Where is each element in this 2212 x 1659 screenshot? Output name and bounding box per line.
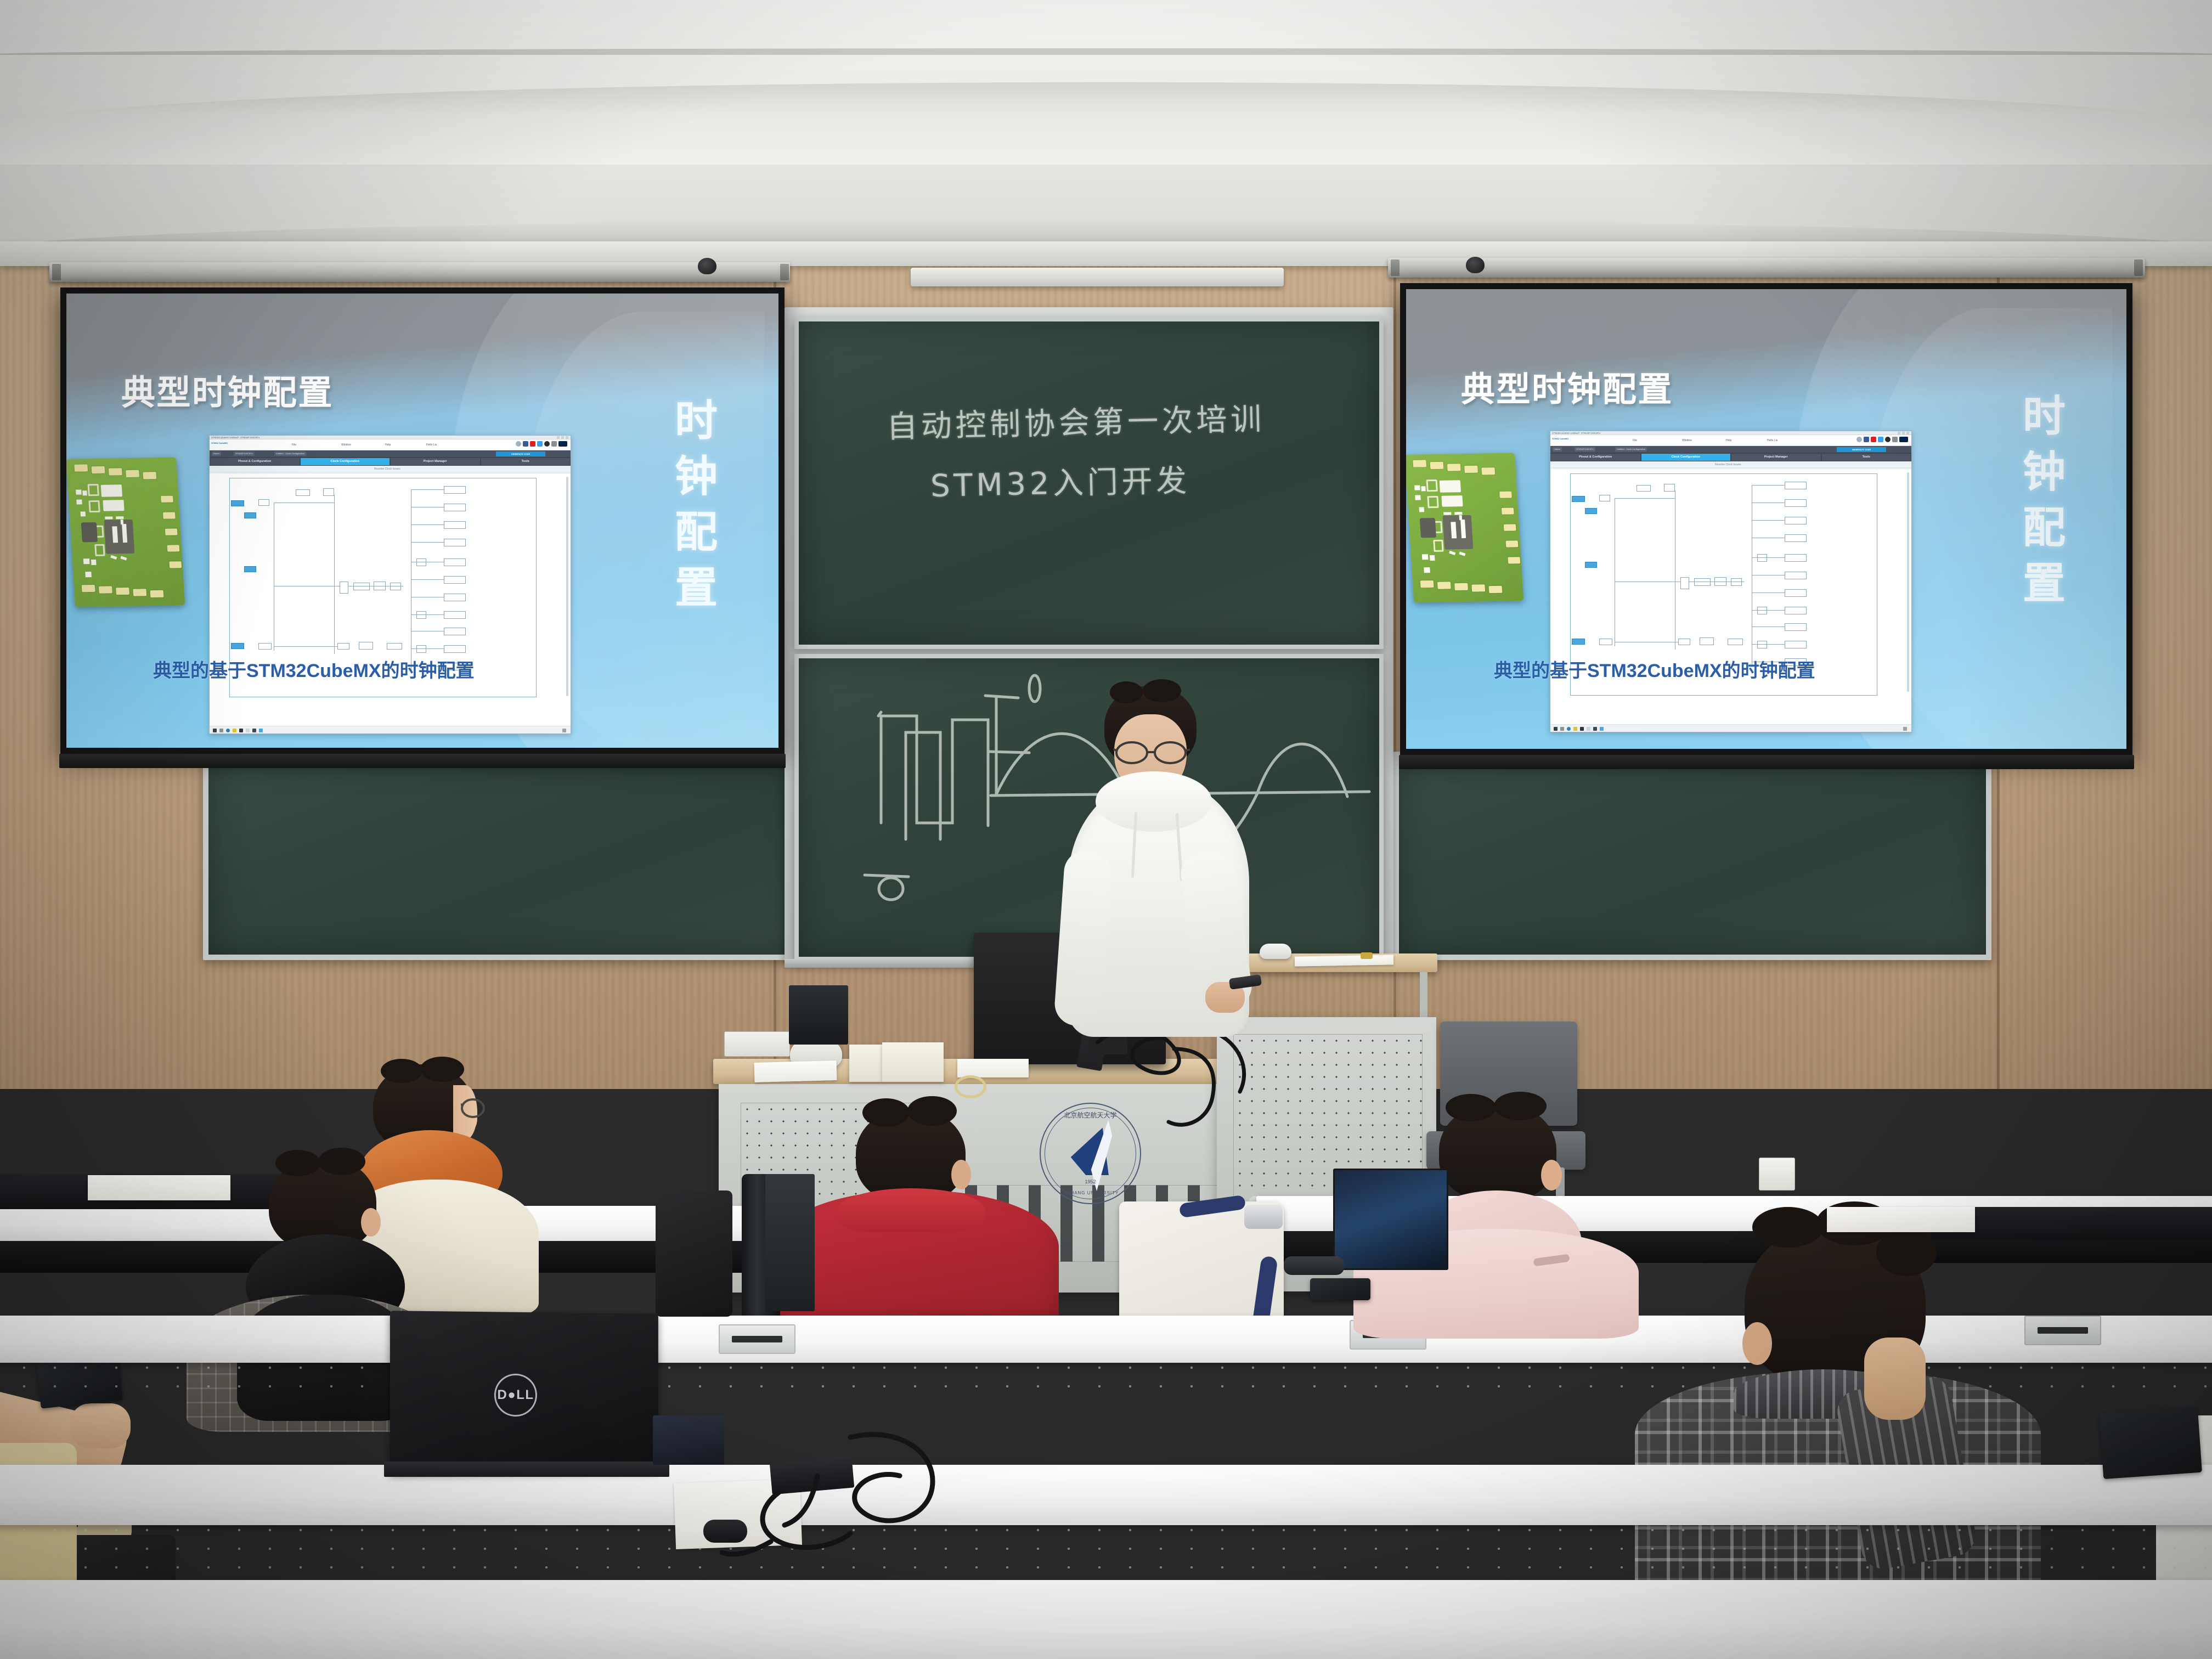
generate-code-button-right[interactable]: GENERATE CODE xyxy=(1837,447,1886,452)
student-black-ear xyxy=(361,1208,381,1237)
right-chalkboard xyxy=(1393,752,1991,960)
adapter-cable xyxy=(675,1415,982,1569)
taskbar-icon-3-right[interactable] xyxy=(1567,727,1571,731)
cubemx-breadcrumb-right: Home STM32F103C8Tx Untitled - Clock Conf… xyxy=(1550,446,1911,453)
cubemx-social-icons-right xyxy=(1857,437,1908,442)
left-screen-housing xyxy=(49,262,790,282)
board-light-fixture xyxy=(911,268,1284,286)
taskbar-icon-4-right[interactable] xyxy=(1573,727,1577,731)
camera-dome-right xyxy=(1466,257,1485,273)
slide-vertical-text: 时钟配置 xyxy=(662,398,724,620)
cubemx-screenshot: STM32CubeMX Untitled*: STM32F103C8Tx STM… xyxy=(209,435,571,734)
presenter-hood xyxy=(1096,771,1212,832)
youtube-icon-right[interactable] xyxy=(1871,437,1876,442)
resolve-clock-issues-label-right[interactable]: Resolve Clock Issues xyxy=(1715,463,1741,466)
right-screen-roller-end-right xyxy=(2134,259,2143,276)
tab-tools[interactable]: Tools xyxy=(481,458,571,465)
center-chalkboard: 自动控制协会第一次培训 STM32入门开发 xyxy=(794,317,1384,649)
lectern-support-right xyxy=(1420,972,1427,1017)
phone-on-desk-center[interactable] xyxy=(1310,1278,1370,1300)
chalk-line-2: STM32入门开发 xyxy=(930,456,1190,506)
desk-power-outlet[interactable] xyxy=(724,1031,790,1057)
cubemx-logo-right: STM32 CubeMX xyxy=(1552,437,1568,440)
tab-pinout-configuration-right[interactable]: Pinout & Configuration xyxy=(1551,454,1640,461)
community-icon[interactable] xyxy=(551,441,557,447)
ceiling xyxy=(0,0,2212,258)
dell-laptop[interactable]: D●LL xyxy=(390,1311,658,1473)
student-red-ear xyxy=(951,1160,971,1189)
left-slide: 典型时钟配置 时钟配置 xyxy=(66,294,778,748)
tablet-bottom-right[interactable] xyxy=(2099,1407,2202,1479)
right-screen-weight-bar xyxy=(1399,755,2134,769)
pcb-graphic xyxy=(66,458,185,607)
ceiling-step-upper xyxy=(0,48,2212,55)
cubemx-tabs-right: Pinout & Configuration Clock Configurati… xyxy=(1550,453,1911,461)
slide-vertical-text-right: 时钟配置 xyxy=(2010,393,2072,616)
clock-tree-canvas-right[interactable] xyxy=(1550,469,1911,724)
cubemx-window-title: STM32CubeMX Untitled*: STM32F103C8Tx xyxy=(211,436,259,439)
generate-code-button[interactable]: GENERATE CODE xyxy=(496,452,545,456)
cubemx-taskbar-right xyxy=(1550,724,1911,732)
right-screen-roller-end xyxy=(1391,259,1400,276)
facebook-icon[interactable] xyxy=(523,441,528,447)
cubemx-screenshot-right: STM32CubeMX Untitled*: STM32F103C8Tx STM… xyxy=(1550,431,1912,732)
cable-loop-yellow xyxy=(955,1075,986,1098)
right-projection-screen[interactable]: 典型时钟配置 时钟配置 xyxy=(1400,283,2132,755)
taskbar-icon-1-right[interactable] xyxy=(1554,727,1558,731)
student-plaid-hand xyxy=(1864,1338,1926,1420)
dell-laptop-base xyxy=(384,1462,669,1477)
taskbar-icon-5-right[interactable] xyxy=(1580,727,1584,731)
breadcrumb-page[interactable]: Untitled - Clock Configuration xyxy=(274,452,306,456)
taskbar-icon-8[interactable] xyxy=(259,729,263,732)
slide-caption-right: 典型的基于STM32CubeMX的时钟配置 xyxy=(1494,656,1815,682)
lectern-small-item xyxy=(1361,952,1373,959)
desk-papers-left xyxy=(754,1060,837,1082)
github-icon[interactable] xyxy=(544,441,550,447)
cubemx-menu-window-right[interactable]: Window xyxy=(1682,439,1692,442)
wall-outlet-right[interactable] xyxy=(1759,1158,1795,1190)
earbud-case[interactable] xyxy=(703,1520,747,1543)
cubemx-menu-file-right[interactable]: File xyxy=(1633,439,1637,442)
taskbar-icon-8-right[interactable] xyxy=(1600,727,1604,731)
left-screen-roller-end-right xyxy=(780,264,789,280)
tab-project-manager[interactable]: Project Manager xyxy=(391,458,480,465)
cubemx-menu-help-right[interactable]: Help xyxy=(1726,439,1731,442)
student-plaid-ear xyxy=(1742,1322,1772,1365)
breadcrumb-mcu[interactable]: STM32F103C8Tx xyxy=(234,452,255,456)
desk-row-3-front xyxy=(0,1521,2212,1576)
taskbar-icon-3[interactable] xyxy=(226,729,230,732)
cubemx-toolbar: Resolve Clock Issues xyxy=(210,466,571,472)
taskbar-icon-2-right[interactable] xyxy=(1560,727,1564,731)
taskbar-icon-2[interactable] xyxy=(219,729,223,732)
tab-pinout-configuration[interactable]: Pinout & Configuration xyxy=(210,458,300,465)
cubemx-menu-file[interactable]: File xyxy=(292,443,296,447)
tab-clock-configuration-right[interactable]: Clock Configuration xyxy=(1641,454,1731,461)
cubemx-menu-help[interactable]: Help xyxy=(385,443,391,447)
cubemx-tabs: Pinout & Configuration Clock Configurati… xyxy=(210,457,571,466)
desk-papers-center xyxy=(957,1059,1029,1077)
desk-row-3-top xyxy=(0,1465,2212,1525)
cubemx-titlebar: STM32CubeMX Untitled*: STM32F103C8Tx xyxy=(210,436,571,439)
pcb-graphic-right xyxy=(1406,453,1523,603)
breadcrumb-mcu-right[interactable]: STM32F103C8Tx xyxy=(1575,447,1595,452)
cubemx-toolbar-right: Resolve Clock Issues xyxy=(1550,461,1911,468)
globe-icon[interactable] xyxy=(516,441,521,447)
cubemx-menubar: STM32 CubeMX File Window Help Hello Liu xyxy=(210,439,571,450)
cubemx-logo: STM32 CubeMX xyxy=(211,442,228,444)
taskbar-icon-6-right[interactable] xyxy=(1587,727,1590,731)
facebook-icon-right[interactable] xyxy=(1864,437,1869,442)
presenter xyxy=(1045,686,1276,1070)
white-storage-box-1 xyxy=(849,1045,882,1082)
student-pink-laptop[interactable] xyxy=(1333,1169,1448,1270)
github-icon-right[interactable] xyxy=(1885,437,1891,442)
slide-title-right: 典型时钟配置 xyxy=(1461,362,1673,411)
tab-clock-configuration[interactable]: Clock Configuration xyxy=(301,458,390,465)
desk-port-cover-row2-a[interactable] xyxy=(719,1324,795,1354)
student-red xyxy=(774,1108,1059,1328)
taskbar-icon-6[interactable] xyxy=(246,729,250,732)
resolve-clock-issues-label[interactable]: Resolve Clock Issues xyxy=(374,467,400,471)
taskbar-icon-7-right[interactable] xyxy=(1593,727,1597,731)
desk-pc-tower xyxy=(789,985,848,1045)
cubemx-taskbar xyxy=(210,726,571,733)
classroom-scene: 自动控制协会第一次培训 STM32入门开发 xyxy=(0,0,2212,1659)
left-chalkboard xyxy=(203,757,806,960)
cubemx-window-title-right: STM32CubeMX Untitled*: STM32F103C8Tx xyxy=(1552,432,1600,435)
left-screen-roller-end xyxy=(52,264,61,280)
left-projection-screen[interactable]: 典型时钟配置 时钟配置 xyxy=(60,287,785,754)
chalk-line-1: 自动控制协会第一次培训 xyxy=(886,394,1265,447)
cubemx-titlebar-right: STM32CubeMX Untitled*: STM32F103C8Tx xyxy=(1550,431,1911,435)
tab-tools-right[interactable]: Tools xyxy=(1822,454,1911,461)
student-front-left-hand xyxy=(70,1403,131,1448)
cubemx-menubar-right: STM32 CubeMX File Window Help Hello Liu xyxy=(1550,435,1911,446)
slide-title: 典型时钟配置 xyxy=(121,365,334,414)
twitter-icon-right[interactable] xyxy=(1878,437,1883,442)
emblem-name-en: BEIHANG UNIVERSITY xyxy=(1062,1190,1119,1195)
st-logo-icon-right[interactable] xyxy=(1899,437,1908,442)
cubemx-menu-window[interactable]: Window xyxy=(341,443,351,447)
right-screen-housing xyxy=(1388,258,2145,278)
breadcrumb-page-right[interactable]: Untitled - Clock Configuration xyxy=(1615,447,1647,452)
globe-icon-right[interactable] xyxy=(1857,437,1862,442)
student-pink-ear xyxy=(1541,1160,1562,1190)
clock-tree-canvas[interactable] xyxy=(210,473,571,726)
breadcrumb-home[interactable]: Home xyxy=(212,452,221,456)
slide-caption: 典型的基于STM32CubeMX的时钟配置 xyxy=(153,656,475,682)
cubemx-account-right[interactable]: Hello Liu xyxy=(1767,439,1778,442)
cubemx-social-icons xyxy=(516,441,567,447)
presenter-glasses xyxy=(1113,741,1190,766)
twitter-icon[interactable] xyxy=(537,441,543,447)
dell-logo: D●LL xyxy=(494,1374,537,1417)
desk-sheet-far-right xyxy=(1827,1207,1975,1232)
community-icon-right[interactable] xyxy=(1892,437,1898,442)
student-red-collar xyxy=(837,1188,985,1232)
breadcrumb-home-right[interactable]: Home xyxy=(1553,447,1562,452)
taskbar-tray-icon-right[interactable] xyxy=(1903,727,1907,731)
taskbar-icon-1[interactable] xyxy=(213,729,217,732)
lectern-paper xyxy=(1295,955,1393,966)
desk-row-4-top xyxy=(0,1580,2212,1659)
emblem-year: 1952 xyxy=(1085,1179,1096,1184)
ceiling-step-lower xyxy=(0,82,2212,165)
camera-dome-left xyxy=(698,258,716,274)
white-storage-box-2 xyxy=(882,1042,944,1082)
youtube-icon[interactable] xyxy=(530,441,535,447)
student-orange-glasses xyxy=(461,1096,495,1119)
taskbar-tray-icon[interactable] xyxy=(562,729,566,732)
desk-sheet-far-left xyxy=(88,1175,230,1200)
taskbar-icon-4[interactable] xyxy=(233,729,236,732)
tab-project-manager-right[interactable]: Project Manager xyxy=(1731,454,1821,461)
speaker-box-left xyxy=(765,1174,815,1311)
taskbar-icon-5[interactable] xyxy=(239,729,243,732)
cubemx-account[interactable]: Hello Liu xyxy=(426,443,437,447)
taskbar-icon-7[interactable] xyxy=(252,729,256,732)
eyeglasses-on-desk[interactable] xyxy=(1284,1256,1344,1275)
left-screen-weight-bar xyxy=(59,754,786,768)
cubemx-breadcrumb: Home STM32F103C8Tx Untitled - Clock Conf… xyxy=(210,450,571,457)
backpack-left xyxy=(656,1190,732,1317)
small-camera-device[interactable] xyxy=(1244,1205,1283,1229)
st-logo-icon[interactable] xyxy=(558,441,567,447)
right-slide: 典型时钟配置 时钟配置 xyxy=(1406,289,2126,749)
